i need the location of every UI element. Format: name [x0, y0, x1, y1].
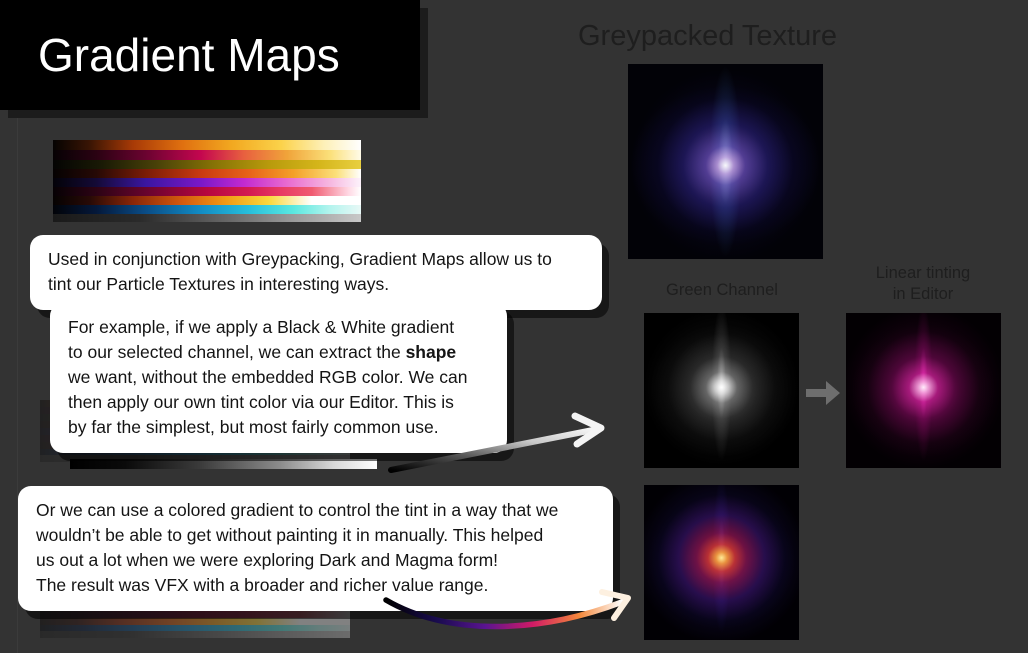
green-channel-label: Green Channel [622, 280, 822, 301]
callout-2-line-3: we want, without the embedded RGB color.… [68, 365, 489, 390]
editor-step-arrow [806, 378, 842, 408]
gradient-row-crimson [53, 150, 361, 160]
gradient-row-violet [53, 178, 361, 187]
texture-glow [628, 64, 823, 259]
slide-root: Gradient Maps Used in conjunction with G… [0, 0, 1028, 653]
green-channel-texture-thumbnail[interactable] [644, 313, 799, 468]
gradient-row-grey [53, 214, 361, 222]
linear-tinting-label: Linear tinting in Editor [823, 263, 1023, 305]
gradient-tinted-texture-thumbnail[interactable] [644, 485, 799, 640]
greypacked-texture-thumbnail[interactable] [628, 64, 823, 259]
texture-glow [644, 313, 799, 468]
callout-2-bold-shape: shape [406, 342, 457, 362]
section-title-greypacked: Greypacked Texture [578, 20, 837, 53]
bw-gradient-arrow [385, 408, 620, 478]
linear-tinting-label-line-2: in Editor [823, 284, 1023, 305]
callout-3-line-1: Or we can use a colored gradient to cont… [36, 498, 595, 523]
callout-2-line-2-text: to our selected channel, we can extract … [68, 342, 406, 362]
gradient-row-magenta [53, 187, 361, 196]
linear-tinting-label-line-1: Linear tinting [823, 263, 1023, 284]
callout-bubble-1: Used in conjunction with Greypacking, Gr… [30, 235, 602, 310]
gradient-row-fire [53, 196, 361, 205]
gradient-palette-top [53, 140, 361, 222]
callout-3-line-3: us out a lot when we were exploring Dark… [36, 548, 595, 573]
page-title: Gradient Maps [0, 32, 340, 78]
gradient-row-rust [53, 169, 361, 178]
callout-2-line-2: to our selected channel, we can extract … [68, 340, 489, 365]
color-gradient-arrow [378, 588, 648, 650]
black-white-gradient-bar [70, 459, 377, 469]
texture-glow [846, 313, 1001, 468]
callout-1-line-2: tint our Particle Textures in interestin… [48, 272, 584, 297]
gradient-row-amber [53, 140, 361, 150]
callout-2-line-1: For example, if we apply a Black & White… [68, 315, 489, 340]
linear-tinted-texture-thumbnail[interactable] [846, 313, 1001, 468]
gradient-row-olive [53, 160, 361, 169]
callout-3-line-2: wouldn’t be able to get without painting… [36, 523, 595, 548]
callout-1-line-1: Used in conjunction with Greypacking, Gr… [48, 247, 584, 272]
title-plate: Gradient Maps [0, 0, 420, 110]
gradient-row-cyan [53, 205, 361, 214]
texture-glow [644, 485, 799, 640]
